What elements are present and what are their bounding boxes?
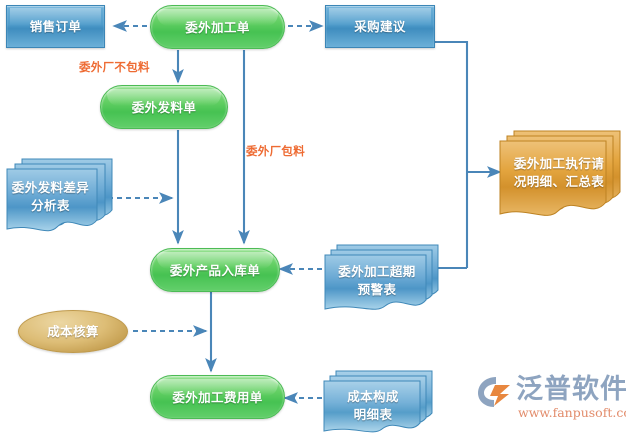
- node-product-receipt-label: 委外产品入库单: [170, 262, 260, 279]
- doc-front-sheet: [500, 141, 606, 215]
- node-cost-breakdown[interactable]: 成本构成 明细表: [322, 368, 436, 436]
- node-overdue-warning[interactable]: 委外加工超期 预警表: [322, 242, 442, 314]
- doc-front-sheet: [324, 381, 420, 432]
- node-purchase-advice-label: 采购建议: [354, 18, 406, 35]
- node-material-issue-label: 委外发料单: [132, 99, 197, 116]
- doc-front-sheet: [7, 169, 97, 231]
- node-sales-order-label: 销售订单: [30, 18, 82, 35]
- node-exec-report[interactable]: 委外加工执行请 况明细、汇总表: [494, 128, 624, 223]
- node-cost-accounting-label: 成本核算: [47, 323, 99, 340]
- node-outsource-order-label: 委外加工单: [185, 19, 250, 36]
- node-product-receipt[interactable]: 委外产品入库单: [150, 248, 280, 292]
- doc-front-sheet: [325, 255, 426, 309]
- node-issue-variance[interactable]: 委外发料差异 分析表: [4, 155, 116, 235]
- node-material-issue[interactable]: 委外发料单: [100, 85, 228, 129]
- node-outsource-order[interactable]: 委外加工单: [150, 5, 285, 49]
- node-process-fee-label: 委外加工费用单: [172, 389, 262, 406]
- annotation-material-supplied: 委外厂包料: [246, 143, 305, 159]
- edge-purchase-advice-trunk: [435, 42, 467, 268]
- fanpusoft-url: www.fanpusoft.com: [518, 406, 626, 420]
- node-purchase-advice[interactable]: 采购建议: [325, 5, 435, 48]
- node-sales-order[interactable]: 销售订单: [6, 5, 105, 48]
- node-cost-accounting[interactable]: 成本核算: [18, 310, 128, 353]
- node-process-fee[interactable]: 委外加工费用单: [150, 375, 285, 419]
- flowchart-canvas: 销售订单 委外加工单 采购建议 委外发料单: [0, 0, 626, 435]
- fanpusoft-logo-icon: [476, 375, 516, 409]
- fanpusoft-logo: 泛普软件 www.fanpusoft.com: [476, 374, 622, 430]
- annotation-no-material-supplied: 委外厂不包料: [79, 59, 150, 75]
- fanpusoft-wordmark: 泛普软件: [516, 374, 626, 406]
